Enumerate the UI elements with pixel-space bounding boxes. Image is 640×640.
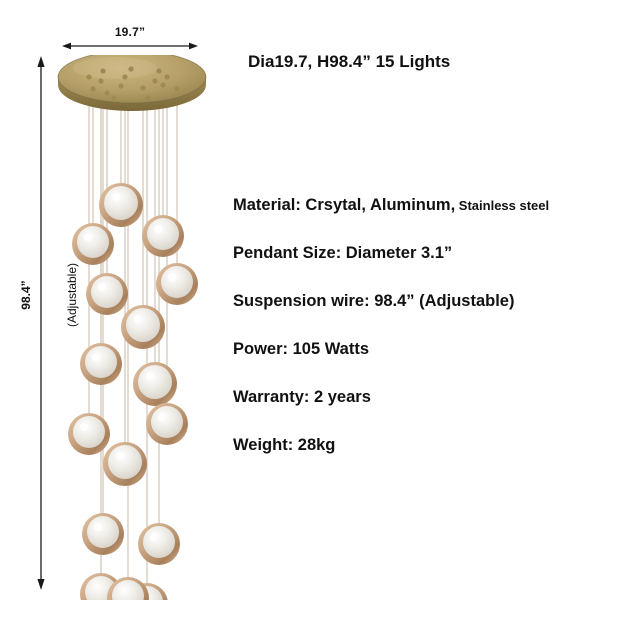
spec-row-suspension-wire: Suspension wire: 98.4” (Adjustable) [233, 292, 633, 340]
pendant [86, 273, 128, 315]
spec-row-weight: Weight: 28kg [233, 436, 633, 484]
spec-suspension-wire-text: Suspension wire: 98.4” (Adjustable) [233, 292, 514, 310]
spec-row-material: Material: Crsytal, Aluminum, Stainless s… [233, 196, 633, 244]
canopy-plate [58, 55, 206, 111]
pendant [72, 223, 114, 265]
page-title: Dia19.7, H98.4” 15 Lights [248, 52, 450, 72]
spec-material-text: Material: Crsytal, Aluminum, [233, 196, 455, 214]
pendant [82, 513, 124, 555]
product-spec-image: 19.7” 98.4” (Adjustable) [0, 0, 640, 640]
spec-row-power: Power: 105 Watts [233, 340, 633, 388]
pendant [121, 305, 165, 349]
spec-material-suffix: Stainless steel [455, 198, 549, 213]
pendant [68, 413, 110, 455]
pendant [138, 523, 180, 565]
crystal-pendants [68, 183, 198, 600]
width-dimension-label: 19.7” [60, 25, 200, 39]
pendant [103, 442, 147, 486]
pendant [133, 362, 177, 406]
spec-row-pendant-size: Pendant Size: Diameter 3.1” [233, 244, 633, 292]
width-dimension-arrow [62, 41, 198, 51]
pendant [99, 183, 143, 227]
spec-warranty-text: Warranty: 2 years [233, 388, 371, 406]
pendant [80, 343, 122, 385]
spec-power-text: Power: 105 Watts [233, 340, 369, 358]
height-dimension-label: 98.4” [19, 260, 33, 330]
height-dimension-arrow [36, 56, 46, 590]
chandelier-illustration [55, 55, 210, 600]
spec-weight-text: Weight: 28kg [233, 436, 335, 454]
specification-list: Material: Crsytal, Aluminum, Stainless s… [233, 196, 633, 484]
pendant [142, 215, 184, 257]
spec-pendant-size-text: Pendant Size: Diameter 3.1” [233, 244, 452, 262]
spec-row-warranty: Warranty: 2 years [233, 388, 633, 436]
pendant [146, 403, 188, 445]
pendant [156, 263, 198, 305]
